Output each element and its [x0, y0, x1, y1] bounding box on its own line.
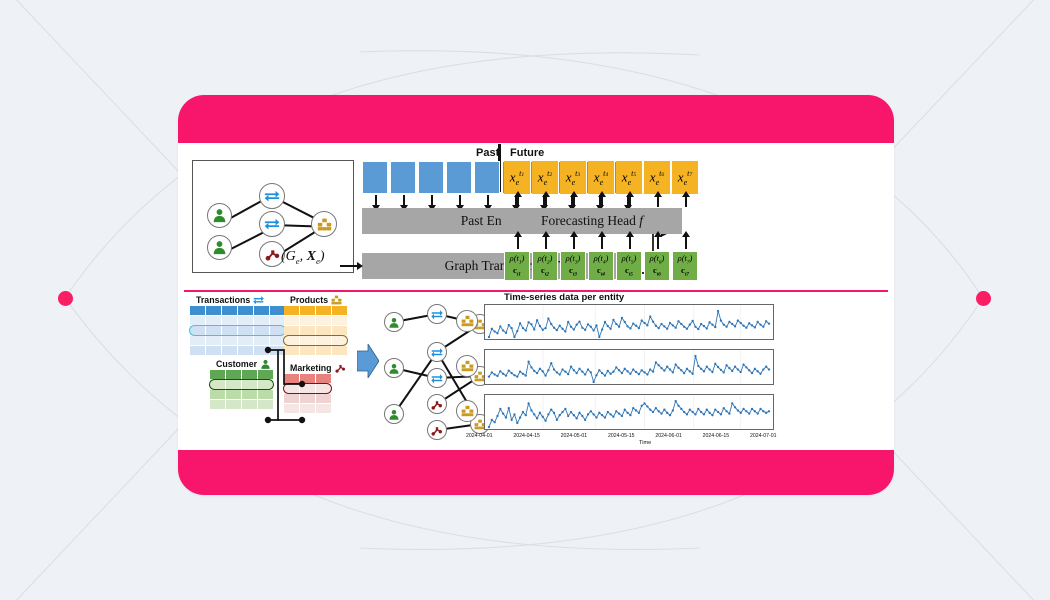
future-cell: xet7: [672, 161, 698, 194]
timeseries-entity-node: [456, 400, 478, 422]
future-label: Future: [510, 147, 544, 159]
blue-right-arrow-icon: [357, 344, 379, 378]
table-cell: [238, 316, 253, 325]
past-cell: [362, 161, 388, 194]
timeseries-entity-node: [456, 355, 478, 377]
card-top-band: [178, 95, 894, 143]
person-icon: [388, 409, 400, 420]
context-cell: ρ(t2)ct2: [532, 251, 558, 281]
context-cell: ρ(t1)ct1: [504, 251, 530, 281]
table-row: [284, 316, 347, 325]
table-row: [190, 306, 285, 315]
person-icon: [212, 208, 227, 223]
timeseries-xtick: 2024-04-01: [466, 433, 493, 439]
table-cell: [206, 346, 221, 355]
graph-node-transaction: [259, 183, 285, 209]
table-cell: [206, 316, 221, 325]
table-row: [190, 316, 285, 325]
past-cell: [418, 161, 444, 194]
table-cell: [238, 346, 253, 355]
table-title-products: Products: [290, 295, 342, 305]
table-cell: [270, 306, 285, 315]
timeseries-plot-2: [484, 349, 774, 385]
table-cell: [242, 380, 257, 389]
past-cell: [474, 161, 500, 194]
table-cell: [210, 380, 225, 389]
entity-graph-caption: (Ge, Xe): [281, 249, 325, 266]
future-sequence: xet1xet2xet3xet4xet5xet6xet7: [504, 161, 698, 194]
timeseries-xtick: 2024-04-15: [513, 433, 540, 439]
timeseries-xtick: 2024-07-01: [750, 433, 777, 439]
table-title-customer: Customer: [216, 359, 271, 369]
table-cell: [270, 326, 285, 335]
decoration-dot-right: [976, 291, 991, 306]
table-join-connectors: [264, 342, 326, 434]
graph-node-transaction: [427, 368, 447, 388]
table-row: [284, 326, 347, 335]
graph-node-transaction: [427, 342, 447, 362]
table-cell: [222, 346, 237, 355]
products-stack-icon: [461, 405, 474, 417]
context-to-head-arrow: [685, 236, 687, 249]
entity-graph-box: (Ge, Xe): [192, 160, 354, 273]
table-cell: [332, 306, 347, 315]
past-cell: [390, 161, 416, 194]
graph-node-customer: [207, 235, 232, 260]
table-cell: [284, 326, 299, 335]
table-cell: [222, 316, 237, 325]
timeseries-xtick: 2024-06-01: [655, 433, 682, 439]
table-cell: [190, 346, 205, 355]
context-to-head-arrow: [573, 236, 575, 249]
card-bottom-band: [178, 450, 894, 495]
table-name: Transactions: [196, 295, 250, 305]
table-cell: [222, 336, 237, 345]
future-cell: xet2: [532, 161, 558, 194]
table-cell: [226, 400, 241, 409]
table-cell: [206, 326, 221, 335]
table-cell: [284, 306, 299, 315]
table-cell: [284, 316, 299, 325]
table-cell: [270, 316, 285, 325]
exchange-arrows-icon: [264, 217, 280, 231]
person-icon: [388, 363, 400, 374]
graph-to-transformer-arrow: [340, 265, 358, 267]
table-cell: [254, 326, 269, 335]
head-to-future-arrow: [685, 196, 687, 207]
exchange-arrows-icon: [431, 373, 443, 384]
table-cell: [226, 380, 241, 389]
future-cell: xet5: [616, 161, 642, 194]
head-to-future-arrow: [573, 196, 575, 207]
forecasting-head-symbol: f: [639, 213, 643, 229]
table-cell: [238, 306, 253, 315]
past-arrow: [403, 195, 405, 206]
table-cell: [190, 336, 205, 345]
table-cell: [316, 326, 331, 335]
products-stack-icon: [317, 218, 332, 231]
exchange-arrows-icon: [253, 295, 264, 305]
graph-node-transaction: [427, 304, 447, 324]
head-to-future-arrow: [601, 196, 603, 207]
past-arrow: [459, 195, 461, 206]
context-cell: ρ(t4)ct4: [588, 251, 614, 281]
context-to-head-arrow: [601, 236, 603, 249]
timeseries-plot-1: [484, 304, 774, 340]
graph-node-customer: [384, 404, 404, 424]
products-stack-icon: [461, 315, 474, 327]
context-cell: ρ(t3)ct3: [560, 251, 586, 281]
table-row: [190, 326, 285, 335]
timeseries-line: [485, 305, 774, 340]
table-cell: [316, 306, 331, 315]
table-cell: [254, 306, 269, 315]
future-cell: xet1: [504, 161, 530, 194]
timeseries-title: Time-series data per entity: [504, 292, 624, 303]
context-cell: ρ(t5)ct5: [616, 251, 642, 281]
timeseries-line: [485, 395, 774, 430]
campaign-node-icon: [265, 247, 280, 262]
context-to-head-arrow: [517, 236, 519, 249]
exchange-arrows-icon: [431, 309, 443, 320]
past-arrow: [487, 195, 489, 206]
timeseries-xlabel: Time: [639, 440, 651, 446]
table-row: [284, 306, 347, 315]
exchange-arrows-icon: [264, 189, 280, 203]
context-sequence: ρ(t1)ct1ρ(t2)ct2ρ(t3)ct3ρ(t4)ct4ρ(t5)ct5…: [504, 251, 698, 281]
past-cell: [446, 161, 472, 194]
table-cell: [300, 306, 315, 315]
campaign-node-icon: [431, 399, 443, 410]
table-cell: [206, 336, 221, 345]
timeseries-plot-3: [484, 394, 774, 430]
figure-card: (Ge, Xe) Past Future Past Encoder P pe G…: [178, 95, 894, 495]
table-cell: [300, 316, 315, 325]
model-architecture-panel: (Ge, Xe) Past Future Past Encoder P pe G…: [184, 143, 888, 290]
head-to-future-arrow: [545, 196, 547, 207]
future-cell: xet6: [644, 161, 670, 194]
table-name: Products: [290, 295, 328, 305]
campaign-node-icon: [335, 363, 346, 373]
table-cell: [242, 370, 257, 379]
graph-node-product: [311, 211, 337, 237]
table-cell: [238, 326, 253, 335]
table-cell: [226, 370, 241, 379]
timeseries-xtick: 2024-06-15: [703, 433, 730, 439]
head-to-future-arrow: [517, 196, 519, 207]
table-cell: [332, 336, 347, 345]
head-to-future-arrow: [657, 196, 659, 207]
table-cell: [226, 390, 241, 399]
graph-node-customer: [384, 312, 404, 332]
graph-node-marketing: [427, 420, 447, 440]
table-cell: [238, 336, 253, 345]
graph-node-marketing: [427, 394, 447, 414]
table-cell: [242, 400, 257, 409]
table-cell: [242, 390, 257, 399]
table-cell: [206, 306, 221, 315]
timeseries-entity-node: [456, 310, 478, 332]
table-cell: [222, 306, 237, 315]
table-cell: [254, 316, 269, 325]
future-cell: xet4: [588, 161, 614, 194]
graph-node-customer: [207, 203, 232, 228]
context-to-head-arrow: [629, 236, 631, 249]
past-arrow: [431, 195, 433, 206]
timeseries-xtick: 2024-05-01: [561, 433, 588, 439]
past-label: Past: [476, 147, 499, 159]
context-cell: ρ(t7)ct7: [672, 251, 698, 281]
campaign-node-icon: [431, 425, 443, 436]
table-cell: [316, 316, 331, 325]
context-to-head-arrow: [657, 236, 659, 249]
future-cell: xet3: [560, 161, 586, 194]
person-icon: [212, 240, 227, 255]
data-pipeline-panel: TransactionsCustomerProductsMarketing Ti…: [184, 292, 888, 450]
table-cell: [222, 326, 237, 335]
table-cell: [190, 306, 205, 315]
products-stack-icon: [461, 360, 474, 372]
timeseries-xtick: 2024-05-15: [608, 433, 635, 439]
table-name: Customer: [216, 359, 257, 369]
table-cell: [332, 346, 347, 355]
person-icon: [388, 317, 400, 328]
table-cell: [332, 316, 347, 325]
forecasting-head-label: Forecasting Head: [541, 213, 636, 229]
table-cell: [190, 316, 205, 325]
graph-node-customer: [384, 358, 404, 378]
context-to-head-arrow: [545, 236, 547, 249]
head-to-future-arrow: [629, 196, 631, 207]
table-cell: [190, 326, 205, 335]
table-cell: [300, 326, 315, 335]
graph-node-transaction: [259, 211, 285, 237]
past-arrow: [375, 195, 377, 206]
decoration-dot-left: [58, 291, 73, 306]
table-cell: [210, 390, 225, 399]
exchange-arrows-icon: [431, 347, 443, 358]
table-cell: [210, 400, 225, 409]
products-stack-icon: [331, 295, 342, 305]
table-cell: [210, 370, 225, 379]
table-title-transactions: Transactions: [196, 295, 264, 305]
timeseries-line: [485, 350, 774, 385]
table-cell: [332, 326, 347, 335]
context-cell: ρ(t6)ct6: [644, 251, 670, 281]
architecture-figure: (Ge, Xe) Past Future Past Encoder P pe G…: [184, 143, 888, 450]
